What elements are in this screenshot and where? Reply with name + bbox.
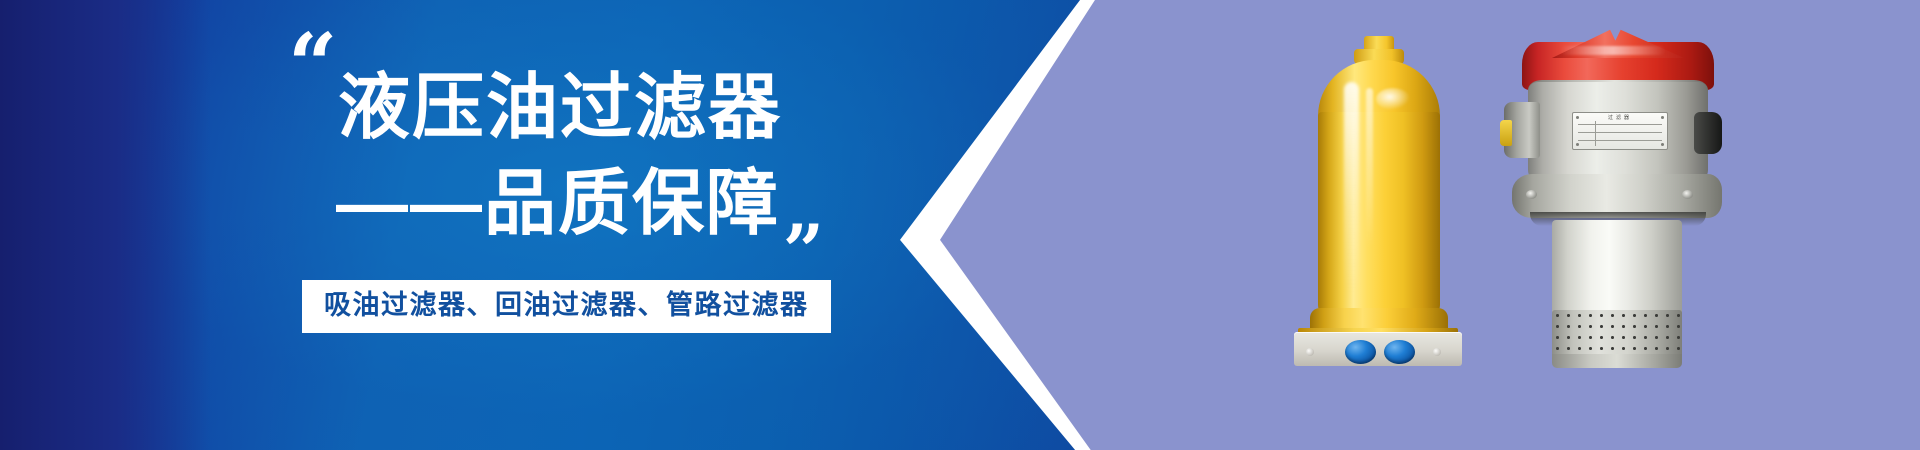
product-return-filter-white: 过滤器 — [1500, 24, 1738, 364]
return-filter-yellow-plug — [1500, 120, 1512, 146]
nameplate-title: 过滤器 — [1573, 114, 1667, 121]
yellow-filter-port-right — [1384, 340, 1415, 364]
headline-line-1: 液压油过滤器 — [338, 72, 782, 144]
return-filter-black-knob — [1694, 112, 1722, 154]
return-filter-flange-hole-left — [1526, 190, 1537, 199]
open-quote-icon: “ — [288, 32, 335, 101]
return-filter-cap-highlight — [1560, 46, 1666, 55]
headline-line-2-row: ——品质保障 „ — [336, 168, 824, 240]
yellow-filter-port-left — [1345, 340, 1376, 364]
return-filter-tube-bottom — [1552, 354, 1682, 368]
headline-block: “ 液压油过滤器 ——品质保障 „ 吸油过滤器、回油过滤器、管路过滤器 — [288, 28, 888, 328]
return-filter-flange-hole-right — [1682, 190, 1693, 199]
nameplate-rule-3 — [1578, 140, 1662, 141]
yellow-filter-highlight — [1344, 82, 1359, 292]
nameplate-rule-1 — [1578, 124, 1662, 125]
yellow-filter-highlight-secondary — [1366, 88, 1373, 248]
return-filter-nameplate: 过滤器 — [1572, 112, 1668, 150]
nameplate-screw-tr — [1661, 116, 1664, 119]
yellow-filter-body — [1318, 112, 1440, 317]
nameplate-screw-br — [1661, 143, 1664, 146]
nameplate-divider — [1595, 121, 1596, 146]
headline-line-2: ——品质保障 — [336, 168, 780, 240]
nameplate-screw-tl — [1576, 116, 1579, 119]
product-photo-area: 过滤器 — [1040, 0, 1920, 450]
promo-banner: 过滤器 “ 液压油过滤器 ——品质保障 „ — [0, 0, 1920, 450]
yellow-filter-bolt-right — [1433, 348, 1441, 356]
yellow-filter-bolt-left — [1306, 348, 1314, 356]
close-quote-icon: „ — [784, 174, 824, 246]
return-filter-mesh-screen — [1552, 310, 1682, 358]
subtitle-badge: 吸油过滤器、回油过滤器、管路过滤器 — [302, 280, 831, 333]
product-suction-filter-yellow — [1288, 36, 1462, 346]
background-left-edge — [0, 0, 210, 450]
nameplate-rule-2 — [1578, 132, 1662, 133]
subtitle-text: 吸油过滤器、回油过滤器、管路过滤器 — [324, 290, 809, 321]
nameplate-screw-bl — [1576, 143, 1579, 146]
yellow-filter-specular-flare — [1376, 88, 1410, 110]
